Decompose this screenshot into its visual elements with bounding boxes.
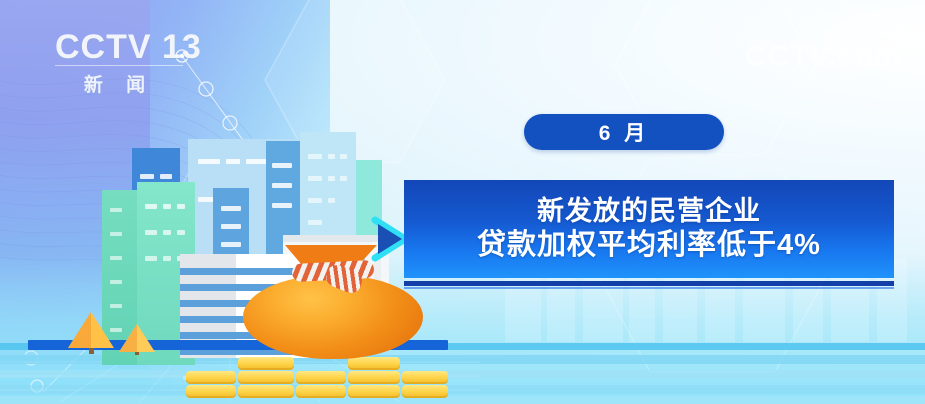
headline-line-2: 贷款加权平均利率低于4%: [477, 230, 821, 260]
play-arrow-solid-icon: [378, 224, 402, 254]
headline-panel-underline-accent: [404, 287, 894, 289]
headline-panel: 新发放的民营企业 贷款加权平均利率低于4%: [404, 180, 894, 278]
cctv-com-watermark: CCTV.com: [745, 40, 902, 74]
infographic-canvas: CCTV 13 新 闻 CCTV.com 6 月 新发放的民营企业 贷款加权平均…: [0, 0, 925, 404]
picture-watermark-icon: [877, 10, 907, 34]
logo-main-text: CCTV 13: [55, 30, 205, 64]
month-badge-label: 6 月: [599, 117, 650, 147]
headline-line-1: 新发放的民营企业: [537, 197, 761, 225]
logo-sub-text: 新 闻: [55, 70, 183, 97]
money-bag-icon: [243, 275, 423, 359]
headline-panel-underline: [404, 281, 894, 286]
cctv-13-logo: CCTV 13 新 闻: [55, 30, 205, 92]
month-badge[interactable]: 6 月: [524, 114, 724, 150]
